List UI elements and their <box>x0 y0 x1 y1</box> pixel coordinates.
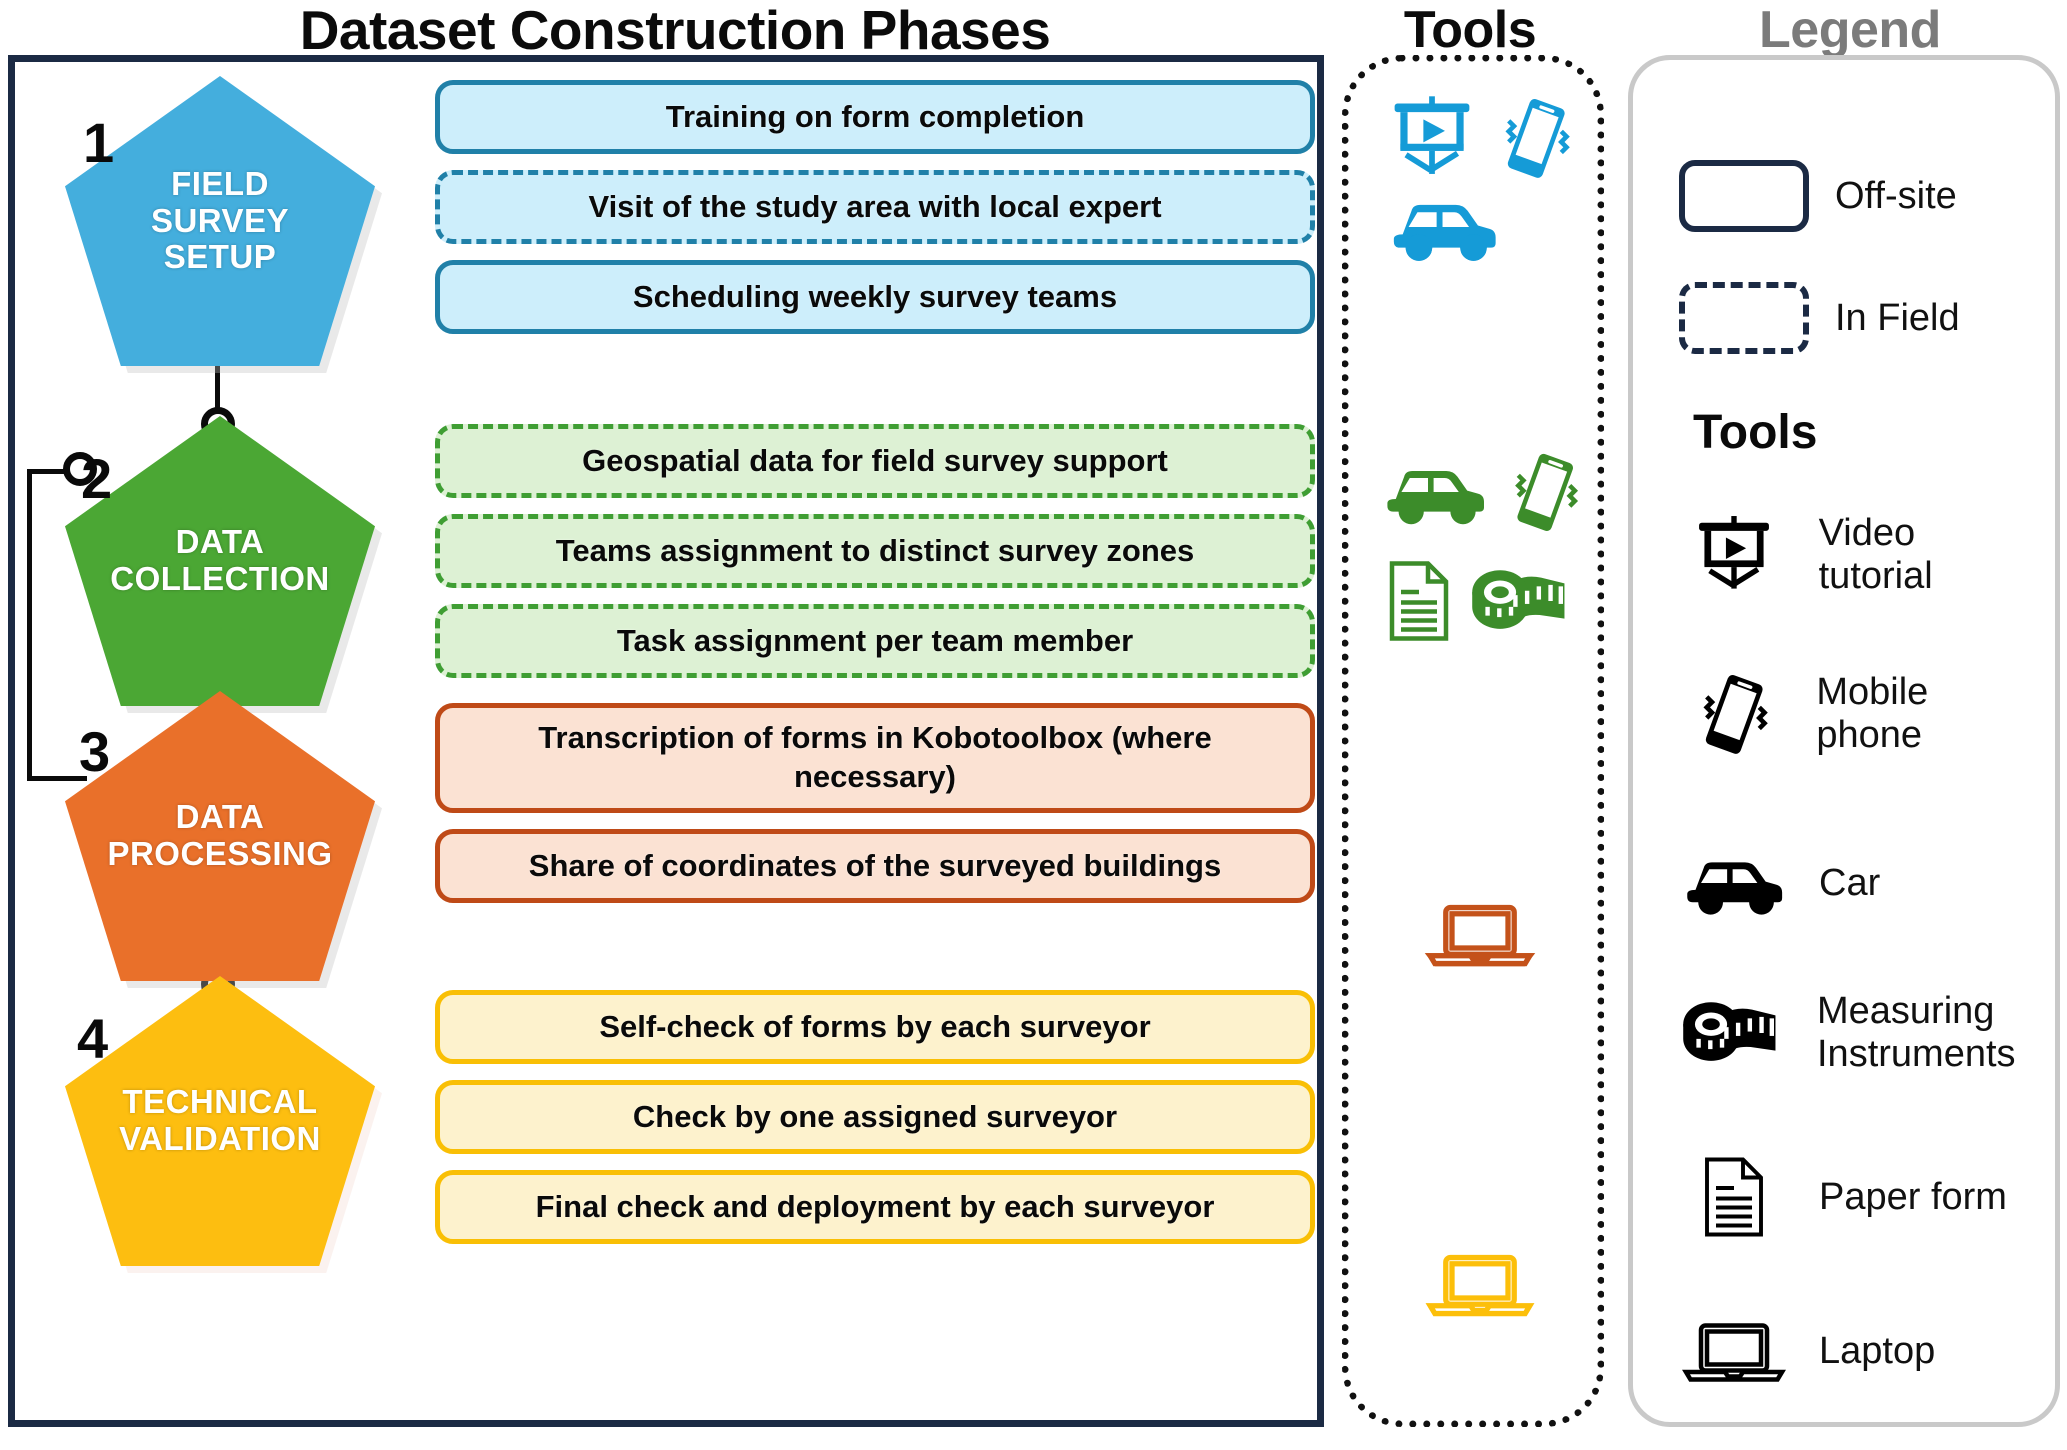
paper-form-icon <box>1679 1155 1789 1239</box>
task-item[interactable]: Teams assignment to distinct survey zone… <box>435 514 1315 588</box>
phase-3-number: 3 <box>79 719 110 784</box>
measuring-instruments-icon <box>1470 560 1574 642</box>
phase-2-tasks: Geospatial data for field survey support… <box>435 424 1315 694</box>
legend-label: Mobile phone <box>1816 671 2039 756</box>
legend-swatch-off-site: Off-site <box>1679 160 1957 232</box>
off-site-swatch <box>1679 160 1809 232</box>
legend-label: Video tutorial <box>1819 512 2039 597</box>
legend-tools-heading: Tools <box>1693 405 1817 460</box>
car-icon <box>1679 848 1789 918</box>
in-field-label: In Field <box>1835 297 1960 340</box>
car-icon <box>1379 456 1491 528</box>
task-item[interactable]: Scheduling weekly survey teams <box>435 260 1315 334</box>
paper-form-icon <box>1386 559 1452 643</box>
legend-label: Laptop <box>1819 1330 1935 1373</box>
in-field-swatch <box>1679 282 1809 354</box>
legend-item-laptop: Laptop <box>1679 1310 2039 1392</box>
task-item[interactable]: Task assignment per team member <box>435 604 1315 678</box>
tools-group-phase-4 <box>1349 1242 1611 1326</box>
phases-panel: FIELDSURVEYSETUP 1 Training on form comp… <box>8 55 1324 1427</box>
car-icon <box>1385 190 1503 264</box>
legend-swatch-in-field: In Field <box>1679 282 1960 354</box>
task-item[interactable]: Training on form completion <box>435 80 1315 154</box>
mobile-phone-icon <box>1679 668 1786 760</box>
legend-item-mobile-phone: Mobile phone <box>1679 668 2039 760</box>
diagram-root: Dataset Construction Phases Tools Legend… <box>0 0 2067 1450</box>
video-tutorial-icon <box>1386 92 1478 184</box>
phase-row-1: FIELDSURVEYSETUP 1 Training on form comp… <box>15 72 1331 372</box>
mobile-phone-icon <box>1507 447 1581 537</box>
measuring-instruments-icon <box>1679 992 1787 1074</box>
page-title: Dataset Construction Phases <box>10 0 1340 62</box>
laptop-icon <box>1679 1310 1789 1392</box>
legend-label: Car <box>1819 862 1880 905</box>
mobile-phone-icon <box>1496 92 1574 184</box>
task-item[interactable]: Self-check of forms by each surveyor <box>435 990 1315 1064</box>
phase-3-tasks: Transcription of forms in Kobotoolbox (w… <box>435 703 1315 919</box>
task-item[interactable]: Final check and deployment by each surve… <box>435 1170 1315 1244</box>
off-site-label: Off-site <box>1835 175 1957 218</box>
tools-column-title: Tools <box>1330 0 1610 60</box>
phase-row-2: DATACOLLECTION 2 Geospatial data for fie… <box>15 412 1331 712</box>
phase-1-tasks: Training on form completion Visit of the… <box>435 80 1315 350</box>
legend-item-paper-form: Paper form <box>1679 1155 2039 1239</box>
laptop-icon <box>1424 892 1536 976</box>
laptop-icon <box>1424 1242 1536 1326</box>
legend-label: Paper form <box>1819 1176 2007 1219</box>
phase-1-number: 1 <box>83 110 114 175</box>
legend-item-car: Car <box>1679 848 2039 918</box>
legend-item-video-tutorial: Video tutorial <box>1679 512 2039 598</box>
task-item[interactable]: Transcription of forms in Kobotoolbox (w… <box>435 703 1315 813</box>
phase-4-number: 4 <box>77 1006 108 1071</box>
task-item[interactable]: Check by one assigned surveyor <box>435 1080 1315 1154</box>
legend-title: Legend <box>1640 0 2060 60</box>
legend-label: Measuring Instruments <box>1817 990 2039 1075</box>
task-item[interactable]: Geospatial data for field survey support <box>435 424 1315 498</box>
tools-panel <box>1342 55 1604 1427</box>
task-item[interactable]: Visit of the study area with local exper… <box>435 170 1315 244</box>
legend-item-measuring-instruments: Measuring Instruments <box>1679 990 2039 1075</box>
tools-group-phase-2 <box>1349 447 1611 643</box>
phase-2-number: 2 <box>81 446 112 511</box>
phase-row-4: TECHNICALVALIDATION 4 Self-check of form… <box>15 972 1331 1282</box>
legend-panel: Off-site In Field Tools <box>1628 55 2060 1427</box>
tools-group-phase-3 <box>1349 892 1611 976</box>
tools-group-phase-1 <box>1349 92 1611 264</box>
video-tutorial-icon <box>1679 512 1789 598</box>
phase-4-tasks: Self-check of forms by each surveyor Che… <box>435 990 1315 1260</box>
phase-row-3: DATAPROCESSING 3 Transcription of forms … <box>15 687 1331 987</box>
task-item[interactable]: Share of coordinates of the surveyed bui… <box>435 829 1315 903</box>
